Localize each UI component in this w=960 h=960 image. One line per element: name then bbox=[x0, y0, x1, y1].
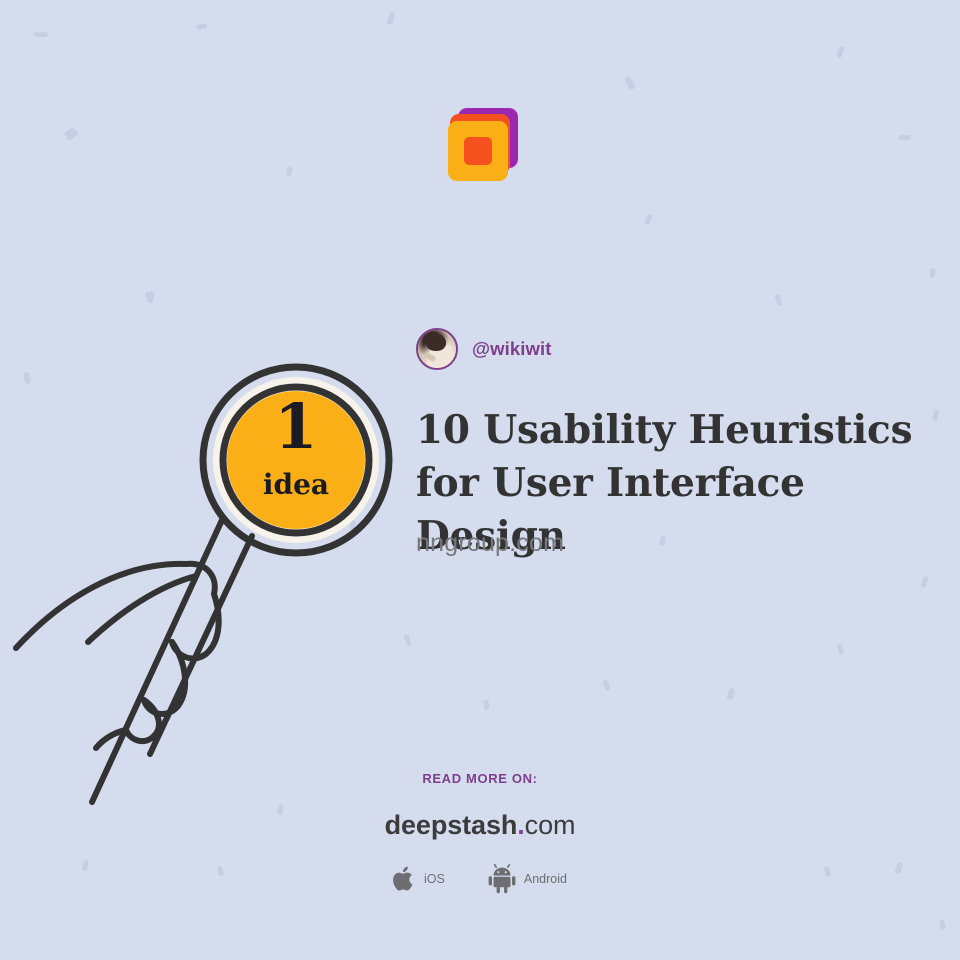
magnifier-illustration: 1 idea bbox=[0, 350, 420, 830]
author-row[interactable]: @wikiwit bbox=[416, 328, 552, 370]
apple-icon bbox=[393, 865, 417, 893]
confetti-dash bbox=[836, 46, 844, 59]
brand-dot: . bbox=[517, 810, 524, 840]
idea-count: 1 bbox=[274, 390, 317, 463]
confetti-dash bbox=[64, 127, 76, 138]
store-badge-android[interactable]: Android bbox=[487, 864, 567, 894]
idea-label: idea bbox=[263, 468, 329, 501]
confetti-dash bbox=[196, 23, 207, 29]
confetti-dash bbox=[483, 700, 489, 711]
logo-icon bbox=[432, 100, 532, 200]
store-label-ios: iOS bbox=[424, 872, 445, 886]
store-badges: iOS Android bbox=[0, 864, 960, 894]
author-handle[interactable]: @wikiwit bbox=[472, 338, 552, 360]
read-more-label: READ MORE ON: bbox=[0, 771, 960, 786]
confetti-dash bbox=[386, 11, 396, 25]
avatar bbox=[416, 328, 458, 370]
confetti-dash bbox=[920, 576, 928, 589]
confetti-dash bbox=[147, 291, 155, 304]
confetti-dash bbox=[66, 129, 79, 141]
share-card: @wikiwit 10 Usability Heuristics for Use… bbox=[0, 0, 960, 960]
confetti-dash bbox=[624, 75, 636, 90]
confetti-dash bbox=[837, 644, 844, 656]
confetti-dash bbox=[939, 920, 946, 931]
confetti-dash bbox=[34, 32, 48, 37]
brand-main: deepstash bbox=[385, 810, 518, 840]
brand-tld: com bbox=[525, 810, 576, 840]
source-domain: nngroup.com bbox=[416, 529, 564, 558]
confetti-dash bbox=[603, 680, 611, 692]
confetti-dash bbox=[144, 291, 152, 302]
confetti-dash bbox=[644, 213, 653, 225]
store-label-android: Android bbox=[524, 872, 567, 886]
magnifier-icon: 1 idea bbox=[0, 350, 420, 830]
confetti-dash bbox=[932, 410, 940, 422]
confetti-dash bbox=[774, 294, 782, 307]
confetti-dash bbox=[286, 167, 292, 177]
android-icon bbox=[487, 864, 517, 894]
confetti-dash bbox=[726, 687, 736, 700]
confetti-dash bbox=[899, 135, 911, 141]
store-badge-ios[interactable]: iOS bbox=[393, 865, 445, 893]
deepstash-logo bbox=[432, 100, 532, 200]
confetti-dash bbox=[929, 268, 936, 279]
brand-wordmark[interactable]: deepstash.com bbox=[0, 810, 960, 841]
title-line-1: 10 Usability Heuristics bbox=[416, 407, 912, 453]
